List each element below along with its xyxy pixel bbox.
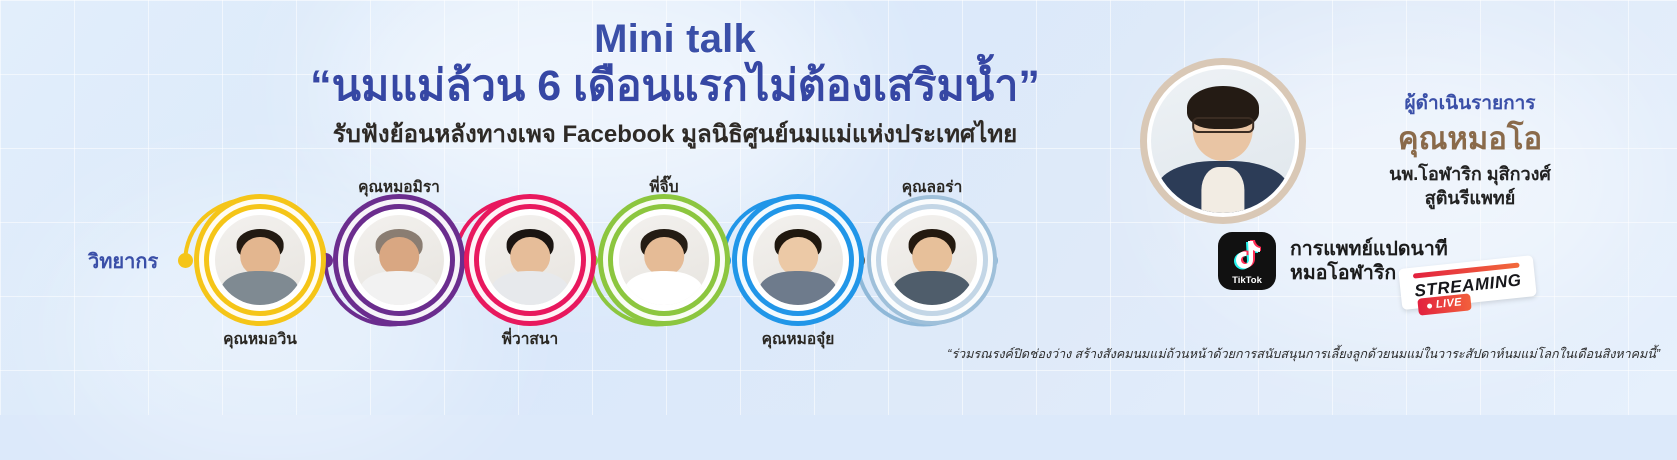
speaker-photo	[215, 215, 305, 305]
connector-dot	[178, 253, 193, 268]
tiktok-icon[interactable]: TikTok	[1218, 232, 1276, 290]
speaker-avatar-3[interactable]: พี่วาสนา	[474, 204, 586, 316]
speaker-photo	[485, 215, 575, 305]
speaker-photo	[354, 215, 444, 305]
connector-dot	[318, 253, 333, 268]
host-ring	[1140, 58, 1306, 224]
speaker-ring	[742, 204, 854, 316]
speaker-ring	[204, 204, 316, 316]
host-nickname: คุณหมอโอ	[1305, 122, 1635, 156]
speaker-name-1: คุณหมอวิน	[160, 326, 360, 351]
tiktok-label: TikTok	[1218, 275, 1276, 286]
host-avatar	[1140, 58, 1306, 224]
speaker-ring	[343, 204, 455, 316]
headline-quote: “นมแม่ล้วน 6 เดือนแรกไม่ต้องเสริมน้ำ”	[200, 62, 1150, 110]
speaker-name-6: คุณลอร่า	[832, 174, 1032, 199]
speaker-name-3: พี่วาสนา	[430, 326, 630, 351]
speaker-avatar-1[interactable]: คุณหมอวิน	[204, 204, 316, 316]
host-info: ผู้ดำเนินรายการ คุณหมอโอ นพ.โอฬาริก มุสิ…	[1305, 88, 1635, 211]
speaker-avatar-6[interactable]: คุณลอร่า	[876, 204, 988, 316]
channel-name-line1: การแพทย์แปดนาที	[1290, 237, 1448, 261]
live-label: LIVE	[1435, 296, 1462, 311]
speaker-photo	[753, 215, 843, 305]
speaker-photo	[619, 215, 709, 305]
speaker-ring	[608, 204, 720, 316]
headline-block: Mini talk “นมแม่ล้วน 6 เดือนแรกไม่ต้องเส…	[200, 18, 1150, 150]
speaker-ring	[474, 204, 586, 316]
speaker-name-4: พี่จิ๊บ	[564, 174, 764, 199]
host-fullname-line2: สูตินรีแพทย์	[1305, 186, 1635, 210]
host-role: ผู้ดำเนินรายการ	[1305, 88, 1635, 118]
mini-talk-banner: Mini talk “นมแม่ล้วน 6 เดือนแรกไม่ต้องเส…	[0, 0, 1677, 415]
footnote-text: “ร่วมรณรงค์ปิดช่องว่าง สร้างสังคมนมแม่ถ้…	[840, 344, 1660, 364]
host-photo	[1151, 69, 1295, 213]
speaker-avatar-5[interactable]: คุณหมอจุ๋ย	[742, 204, 854, 316]
speaker-avatar-2[interactable]: คุณหมอมิรา	[343, 204, 455, 316]
live-dot-icon	[1427, 303, 1432, 308]
headline-subtitle: รับฟังย้อนหลังทางเพจ Facebook มูลนิธิศูน…	[200, 121, 1150, 150]
speaker-photo	[887, 215, 977, 305]
speaker-ring	[876, 204, 988, 316]
speaker-avatar-4[interactable]: พี่จิ๊บ	[608, 204, 720, 316]
speaker-name-2: คุณหมอมิรา	[299, 174, 499, 199]
host-fullname-line1: นพ.โอฬาริก มุสิกวงศ์	[1305, 162, 1635, 186]
headline-main: Mini talk	[200, 18, 1150, 60]
